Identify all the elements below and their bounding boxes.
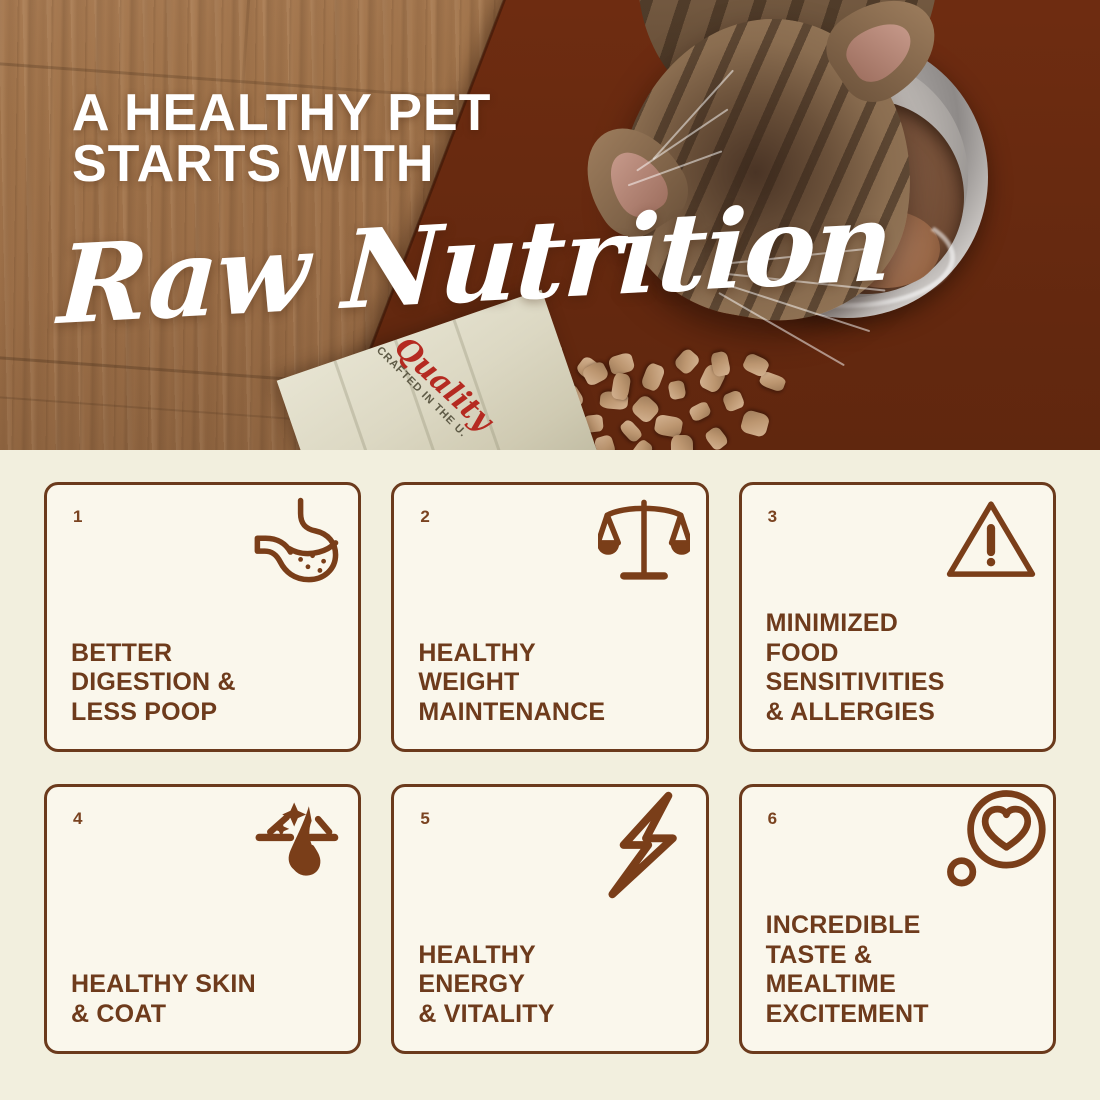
- hero-headline: A HEALTHY PET STARTS WITH: [72, 88, 491, 190]
- card-title: HEALTHY WEIGHT MAINTENANCE: [418, 639, 681, 728]
- headline-line-2: STARTS WITH: [72, 139, 491, 190]
- benefit-card-4[interactable]: 4 HEALTHY SKIN & COAT: [44, 784, 361, 1054]
- balance-scale-icon: [598, 495, 690, 587]
- card-title: BETTER DIGESTION & LESS POOP: [71, 639, 334, 728]
- benefit-card-3[interactable]: 3 MINIMIZED FOOD SENSITIVITIES & ALLERGI…: [739, 482, 1056, 752]
- warning-triangle-icon: [945, 495, 1037, 587]
- hero-photo: Quality CRAFTED IN THE U. A HEALTHY PET …: [0, 0, 1100, 450]
- benefit-card-6[interactable]: 6 INCREDIBLE TASTE & MEALTIME EXCITEMENT: [739, 784, 1056, 1054]
- benefit-card-1[interactable]: 1 BETTER DIGESTION & LESS POOP: [44, 482, 361, 752]
- promo-graphic: Quality CRAFTED IN THE U. A HEALTHY PET …: [0, 0, 1100, 1100]
- card-number: 1: [73, 507, 82, 527]
- benefit-card-5[interactable]: 5 HEALTHY ENERGY & VITALITY: [391, 784, 708, 1054]
- card-number: 4: [73, 809, 82, 829]
- card-title: MINIMIZED FOOD SENSITIVITIES & ALLERGIES: [766, 609, 1029, 727]
- cat-ear-inner: [839, 11, 922, 89]
- card-title: INCREDIBLE TASTE & MEALTIME EXCITEMENT: [766, 911, 1029, 1029]
- card-number: 3: [768, 507, 777, 527]
- hair-follicle-sparkle-icon: [250, 797, 342, 889]
- lightning-bolt-icon: [590, 789, 702, 901]
- card-title: HEALTHY SKIN & COAT: [71, 970, 334, 1029]
- card-number: 5: [420, 809, 429, 829]
- benefits-grid: 1 BETTER DIGESTION & LESS POOP 2: [44, 482, 1056, 1054]
- headline-line-1: A HEALTHY PET: [72, 88, 491, 139]
- stomach-icon: [250, 495, 342, 587]
- heart-thought-bubble-icon: [937, 789, 1049, 901]
- benefit-card-2[interactable]: 2 HEALTHY WEIGHT MAINTENANCE: [391, 482, 708, 752]
- card-title: HEALTHY ENERGY & VITALITY: [418, 941, 681, 1030]
- kibble-piece: [671, 435, 693, 450]
- card-number: 6: [768, 809, 777, 829]
- card-number: 2: [420, 507, 429, 527]
